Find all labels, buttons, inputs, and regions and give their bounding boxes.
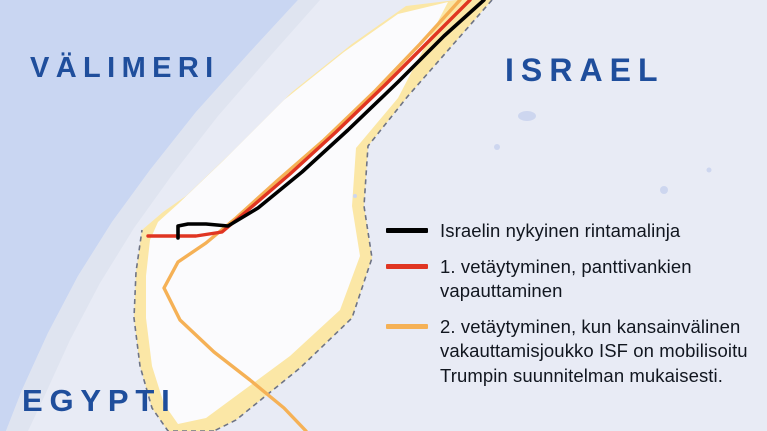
legend-label-first-withdrawal: 1. vetäytyminen, panttivankien vapauttam…: [440, 255, 761, 304]
legend-swatch-red: [386, 264, 428, 269]
map-feature-dot: [660, 186, 668, 194]
map-feature-dot: [518, 111, 536, 121]
legend-swatch-black: [386, 228, 428, 233]
legend-item-frontline: Israelin nykyinen rintamalinja: [386, 219, 761, 244]
map-feature-dot: [494, 144, 500, 150]
map-container: VÄLIMERI ISRAEL EGYPTI Israelin nykyinen…: [0, 0, 767, 431]
legend-label-frontline: Israelin nykyinen rintamalinja: [440, 219, 761, 244]
legend: Israelin nykyinen rintamalinja 1. vetäyt…: [386, 219, 761, 400]
legend-label-second-withdrawal: 2. vetäytyminen, kun kansainvälinen vaka…: [440, 315, 761, 389]
map-feature-dot: [707, 168, 712, 173]
legend-item-second-withdrawal: 2. vetäytyminen, kun kansainvälinen vaka…: [386, 315, 761, 389]
legend-swatch-orange: [386, 324, 428, 329]
map-feature-dot: [353, 194, 357, 198]
legend-item-first-withdrawal: 1. vetäytyminen, panttivankien vapauttam…: [386, 255, 761, 304]
